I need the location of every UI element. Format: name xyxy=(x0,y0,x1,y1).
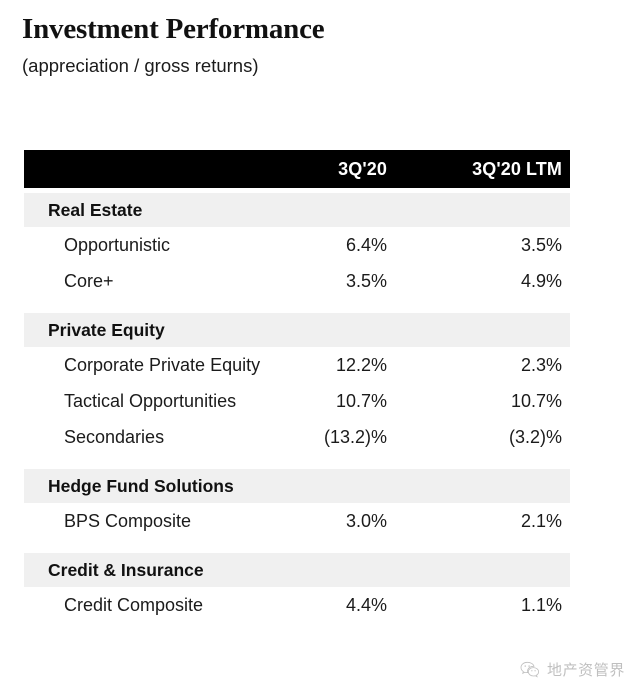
section-title-hedge-fund-solutions: Hedge Fund Solutions xyxy=(24,476,234,497)
table-section-hedge-fund-solutions: Hedge Fund Solutions BPS Composite 3.0% … xyxy=(24,469,570,539)
row-value-q3-20-ltm: 1.1% xyxy=(414,595,570,616)
section-band: Hedge Fund Solutions xyxy=(24,469,570,503)
table-row: Credit Composite 4.4% 1.1% xyxy=(24,587,570,623)
table-row: Core+ 3.5% 4.9% xyxy=(24,263,570,299)
table-section-real-estate: Real Estate Opportunistic 6.4% 3.5% Core… xyxy=(24,193,570,299)
table-row: Secondaries (13.2)% (3.2)% xyxy=(24,419,570,455)
row-label: Secondaries xyxy=(24,427,267,448)
table-row: Opportunistic 6.4% 3.5% xyxy=(24,227,570,263)
row-label: Opportunistic xyxy=(24,235,267,256)
row-value-q3-20-ltm: 2.3% xyxy=(414,355,570,376)
section-divider xyxy=(24,299,570,308)
section-title-private-equity: Private Equity xyxy=(24,320,165,341)
row-value-q3-20: 3.0% xyxy=(267,511,414,532)
row-label: BPS Composite xyxy=(24,511,267,532)
column-header-q3-20: 3Q'20 xyxy=(267,159,414,180)
section-band: Real Estate xyxy=(24,193,570,227)
column-header-q3-20-ltm: 3Q'20 LTM xyxy=(414,159,570,180)
watermark-text: 地产资管界 xyxy=(547,659,625,680)
watermark: 地产资管界 xyxy=(520,659,625,680)
row-value-q3-20-ltm: 2.1% xyxy=(414,511,570,532)
row-value-q3-20: 6.4% xyxy=(267,235,414,256)
section-title-credit-and-insurance: Credit & Insurance xyxy=(24,560,204,581)
row-label: Credit Composite xyxy=(24,595,267,616)
table-row: Tactical Opportunities 10.7% 10.7% xyxy=(24,383,570,419)
row-value-q3-20-ltm: (3.2)% xyxy=(414,427,570,448)
row-label: Tactical Opportunities xyxy=(24,391,267,412)
table-header-row: 3Q'20 3Q'20 LTM xyxy=(24,150,570,188)
section-band: Credit & Insurance xyxy=(24,553,570,587)
page-subtitle: (appreciation / gross returns) xyxy=(22,54,622,78)
table-row: Corporate Private Equity 12.2% 2.3% xyxy=(24,347,570,383)
row-value-q3-20-ltm: 4.9% xyxy=(414,271,570,292)
investment-performance-table: 3Q'20 3Q'20 LTM Real Estate Opportunisti… xyxy=(24,150,570,623)
section-divider xyxy=(24,539,570,548)
table-row: BPS Composite 3.0% 2.1% xyxy=(24,503,570,539)
row-label: Corporate Private Equity xyxy=(24,355,267,376)
document-header: Investment Performance (appreciation / g… xyxy=(22,12,622,78)
row-value-q3-20: 12.2% xyxy=(267,355,414,376)
section-title-real-estate: Real Estate xyxy=(24,200,142,221)
row-value-q3-20: 3.5% xyxy=(267,271,414,292)
section-divider xyxy=(24,455,570,464)
row-value-q3-20-ltm: 3.5% xyxy=(414,235,570,256)
row-value-q3-20: 10.7% xyxy=(267,391,414,412)
wechat-icon xyxy=(520,661,540,679)
page-title: Investment Performance xyxy=(22,12,622,46)
section-band: Private Equity xyxy=(24,313,570,347)
row-value-q3-20: 4.4% xyxy=(267,595,414,616)
row-value-q3-20: (13.2)% xyxy=(267,427,414,448)
table-section-private-equity: Private Equity Corporate Private Equity … xyxy=(24,313,570,455)
row-label: Core+ xyxy=(24,271,267,292)
table-section-credit-and-insurance: Credit & Insurance Credit Composite 4.4%… xyxy=(24,553,570,623)
row-value-q3-20-ltm: 10.7% xyxy=(414,391,570,412)
